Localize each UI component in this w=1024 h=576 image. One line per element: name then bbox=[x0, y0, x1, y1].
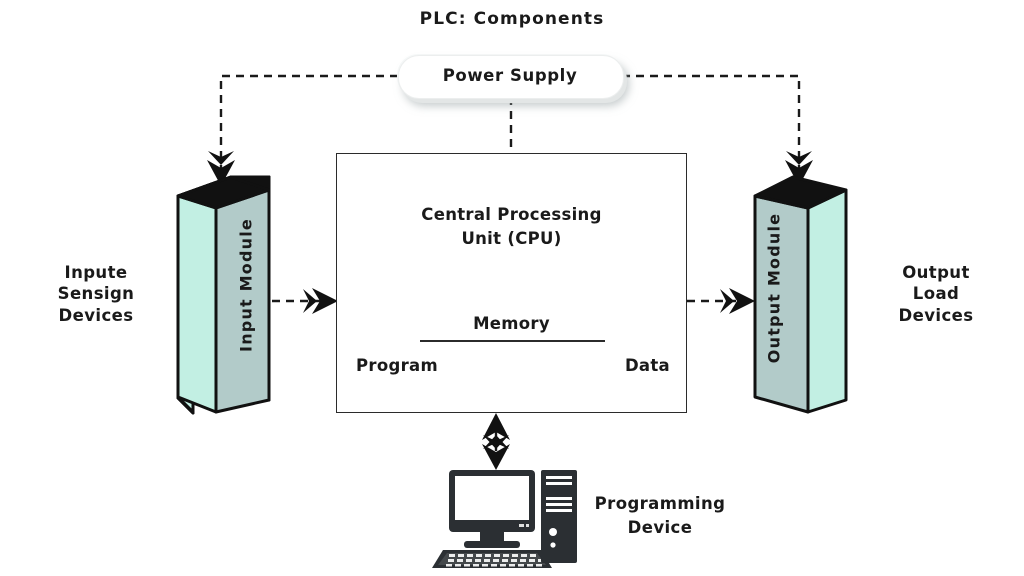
programming-device-icon bbox=[432, 470, 577, 568]
connector-cpu-to-output-module bbox=[687, 288, 755, 314]
output-module-label: Output Module bbox=[765, 193, 784, 383]
power-supply-label: Power Supply bbox=[398, 65, 622, 86]
plc-components-diagram: PLC: Components Power Supply Central Pro… bbox=[0, 0, 1024, 576]
data-label: Data bbox=[540, 355, 670, 376]
memory-underline bbox=[420, 340, 605, 342]
programming-device-label: Programming Device bbox=[570, 492, 750, 540]
program-label: Program bbox=[356, 355, 486, 376]
cpu-title-label: Central Processing Unit (CPU) bbox=[336, 203, 687, 251]
connector-cpu-to-programming-device bbox=[482, 413, 510, 470]
output-load-devices-label: Output Load Devices bbox=[848, 262, 1024, 326]
page-title: PLC: Components bbox=[0, 8, 1024, 30]
connector-input-module-to-cpu bbox=[272, 288, 338, 314]
input-module-label: Input Module bbox=[237, 190, 256, 380]
memory-label: Memory bbox=[336, 313, 687, 334]
input-sensing-devices-label: Inpute Sensign Devices bbox=[8, 262, 184, 326]
